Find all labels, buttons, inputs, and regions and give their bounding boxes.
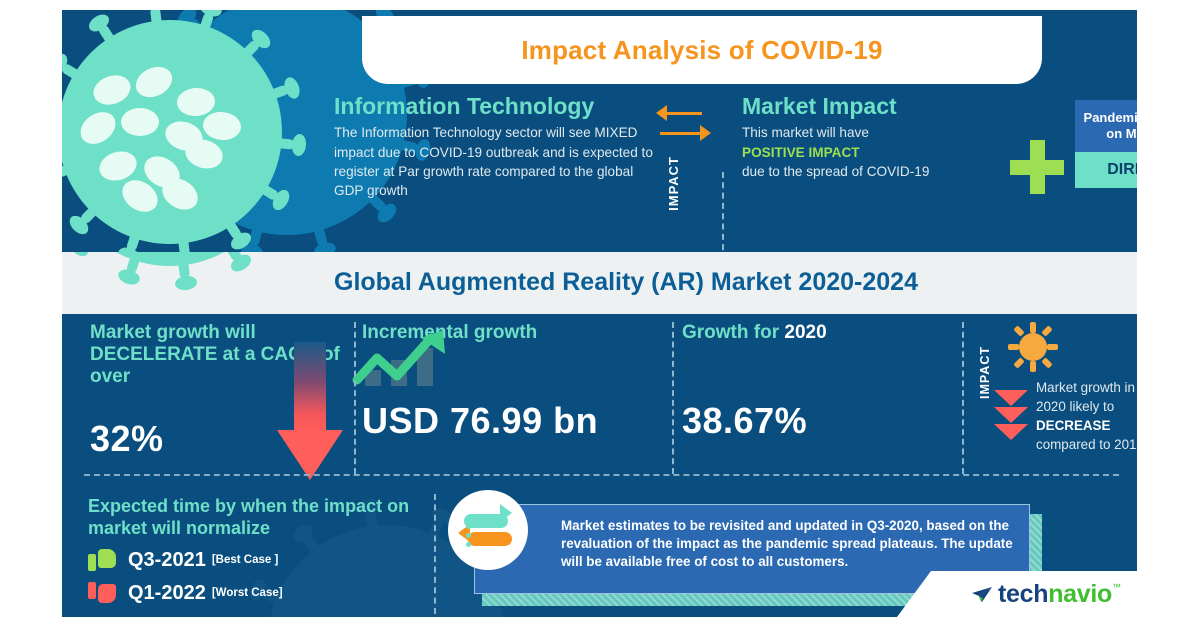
information-technology-heading: Information Technology bbox=[334, 94, 654, 119]
normalize-worst-value: Q1-2022 bbox=[128, 582, 206, 605]
normalize-block: Expected time by when the impact on mark… bbox=[88, 496, 418, 605]
trend-up-icon bbox=[347, 328, 455, 390]
normalize-row-worst: Q1-2022 [Worst Case] bbox=[88, 581, 418, 605]
logo-trademark: ™ bbox=[1112, 582, 1121, 592]
market-title-band: Global Augmented Reality (AR) Market 202… bbox=[62, 252, 1137, 314]
infographic-canvas: Impact Analysis of COVID-19 Information … bbox=[0, 0, 1200, 627]
technavio-logo: tech navio ™ bbox=[971, 580, 1121, 609]
market-impact-column: Market Impact This market will have POSI… bbox=[742, 94, 992, 181]
metrics-row: Market growth will DECELERATE at a CAGR … bbox=[62, 314, 1137, 486]
down-chevrons-icon bbox=[994, 390, 1028, 452]
covid-virus-icon bbox=[1008, 322, 1058, 372]
market-impact-heading: Market Impact bbox=[742, 94, 992, 119]
divider-vertical-metric-1 bbox=[354, 322, 356, 474]
right-impact-line1: Market growth in 2020 likely to bbox=[1036, 380, 1135, 414]
thumbs-down-icon bbox=[88, 581, 116, 605]
right-impact-text: Market growth in 2020 likely to DECREASE… bbox=[1036, 378, 1137, 454]
impact-axis-left: IMPACT bbox=[658, 94, 720, 244]
plus-icon bbox=[1010, 140, 1064, 194]
metric-growth-2020-title-year: 2020 bbox=[784, 322, 826, 343]
logo-text-tech: tech bbox=[998, 580, 1048, 609]
arrow-right-head-icon bbox=[700, 125, 711, 141]
pandemic-impact-box: Pandemic Impact on Market DIRECT bbox=[1075, 100, 1137, 188]
refresh-icon bbox=[448, 490, 528, 570]
metric-growth-2020-title-teal: Growth for bbox=[682, 322, 784, 343]
right-impact-emphasis: DECREASE bbox=[1036, 418, 1110, 433]
information-technology-column: Information Technology The Information T… bbox=[334, 94, 654, 200]
normalize-row-best: Q3-2021 [Best Case ] bbox=[88, 548, 418, 572]
virus-graphic-band bbox=[62, 252, 320, 304]
page-title: Impact Analysis of COVID-19 bbox=[521, 35, 882, 66]
metric-growth-2020-value: 38.67% bbox=[682, 400, 932, 442]
normalize-worst-case: [Worst Case] bbox=[212, 587, 283, 599]
thumbs-up-icon bbox=[88, 548, 116, 572]
right-impact-line2: compared to 2019 bbox=[1036, 437, 1137, 452]
normalize-heading: Expected time by when the impact on mark… bbox=[88, 496, 418, 539]
top-info-row: Information Technology The Information T… bbox=[62, 88, 1137, 248]
down-arrow-icon bbox=[277, 342, 343, 482]
market-impact-body: This market will have POSITIVE IMPACT du… bbox=[742, 123, 992, 181]
market-impact-line1: This market will have bbox=[742, 125, 869, 140]
metric-incremental-value: USD 76.99 bn bbox=[362, 400, 662, 442]
metric-growth-2020-title: Growth for 2020 bbox=[682, 322, 932, 344]
pandemic-impact-value: DIRECT bbox=[1075, 152, 1137, 188]
right-impact-axis-label: IMPACT bbox=[978, 346, 992, 399]
normalize-best-value: Q3-2021 bbox=[128, 549, 206, 572]
information-technology-body: The Information Technology sector will s… bbox=[334, 123, 654, 200]
impact-axis-label: IMPACT bbox=[666, 156, 681, 211]
divider-vertical-metric-3 bbox=[962, 322, 964, 474]
infographic-board: Impact Analysis of COVID-19 Information … bbox=[62, 10, 1137, 617]
logo-strip: tech navio ™ bbox=[897, 571, 1137, 617]
logo-text-navio: navio bbox=[1048, 580, 1112, 609]
market-impact-highlight: POSITIVE IMPACT bbox=[742, 145, 860, 160]
header-card: Impact Analysis of COVID-19 bbox=[362, 16, 1042, 84]
market-impact-line2: due to the spread of COVID-19 bbox=[742, 164, 929, 179]
normalize-best-case: [Best Case ] bbox=[212, 554, 278, 566]
paper-plane-icon bbox=[971, 586, 993, 604]
metric-growth-2020: Growth for 2020 38.67% bbox=[682, 322, 932, 442]
note-text: Market estimates to be revisited and upd… bbox=[561, 517, 1013, 571]
market-title: Global Augmented Reality (AR) Market 202… bbox=[334, 268, 918, 297]
divider-vertical-metric-2 bbox=[672, 322, 674, 474]
divider-horizontal bbox=[84, 474, 1119, 476]
arrow-left-head-icon bbox=[656, 105, 667, 121]
pandemic-impact-heading: Pandemic Impact on Market bbox=[1075, 100, 1137, 152]
